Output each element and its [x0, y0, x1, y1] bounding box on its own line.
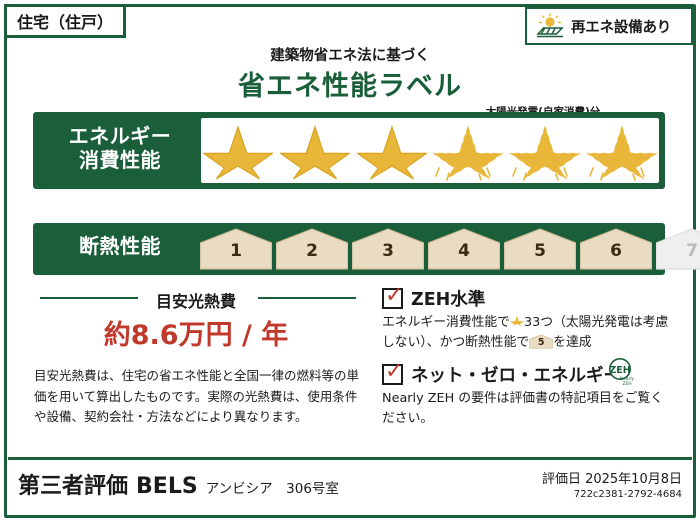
- energy-performance-band: エネルギー 消費性能: [33, 112, 665, 189]
- footer-right: 評価日 2025年10月8日 722c2381-2792-4684: [542, 468, 682, 500]
- star-filled-1: [203, 120, 273, 182]
- star-solar-6: [587, 120, 657, 182]
- star-solar-4: [433, 120, 503, 182]
- cost-value: 約8.6万円 / 年: [36, 313, 356, 352]
- zeh-badge-icon: ZEH Nearly ZEH: [605, 358, 639, 388]
- grade-value-1: 1: [200, 241, 272, 261]
- grade-value-7: 7: [656, 241, 700, 261]
- renewable-badge-label: 再エネ設備あり: [571, 16, 671, 37]
- net-zero-energy-check-row: ✓ ネット・ゼロ・エネルギー: [382, 362, 621, 387]
- renewable-equipment-badge: 再エネ設備あり: [525, 7, 693, 45]
- house-type-tag: 住宅（住戸）: [4, 4, 126, 38]
- star-solar-5: [510, 120, 580, 182]
- checkmark-icon: ✓: [385, 285, 403, 307]
- net-zero-energy-desc: Nearly ZEH の要件は評価書の特記項目をご覧ください。: [382, 389, 668, 429]
- insulation-performance-label: 断熱性能: [45, 235, 195, 259]
- svg-text:ZEH: ZEH: [622, 381, 631, 387]
- svg-text:ZEH: ZEH: [609, 365, 630, 376]
- zeh-standard-check-row: ✓ ZEH水準: [382, 286, 485, 311]
- grade-value-3: 3: [352, 241, 424, 261]
- energy-performance-label: エネルギー 消費性能: [45, 125, 195, 172]
- grade-cell-7: 7: [656, 227, 700, 271]
- zeh-desc-pre: エネルギー消費性能で: [382, 315, 510, 330]
- energy-performance-label-line1: エネルギー: [45, 125, 195, 149]
- grade-value-4: 4: [428, 241, 500, 261]
- inline-star-icon: [510, 314, 524, 328]
- grade-value-5: 5: [504, 241, 576, 261]
- third-party-label: 第三者評価: [18, 468, 128, 500]
- grade-cell-6: 6: [580, 227, 652, 271]
- sun-panel-icon: [535, 13, 565, 39]
- net-zero-energy-checkbox[interactable]: ✓: [382, 364, 403, 385]
- grade-cell-5: 5: [504, 227, 576, 271]
- inline-grade-badge: 5: [529, 334, 553, 349]
- grade-cell-2: 2: [276, 227, 348, 271]
- net-zero-energy-label: ネット・ゼロ・エネルギー: [411, 362, 621, 387]
- evaluation-id: 722c2381-2792-4684: [542, 489, 682, 500]
- bels-energy-label: 住宅（住戸） 再エ: [0, 0, 700, 522]
- star-filled-3: [357, 120, 427, 182]
- zeh-standard-checkbox[interactable]: ✓: [382, 288, 403, 309]
- bels-logo-text: BELS: [136, 474, 198, 499]
- zeh-standard-desc: エネルギー消費性能で33つ（太陽光発電は考慮しない）、かつ断熱性能で5を達成: [382, 313, 672, 353]
- footer-divider: [8, 457, 692, 460]
- cost-note: 目安光熱費は、住宅の省エネ性能と全国一律の燃料等の単価を用いて算出したものです。…: [34, 366, 362, 428]
- footer-left: 第三者評価 BELS アンビシア 306号室: [18, 468, 339, 500]
- cost-title: 目安光熱費: [150, 288, 242, 312]
- grade-value-6: 6: [580, 241, 652, 261]
- grade-value-2: 2: [276, 241, 348, 261]
- checkmark-icon: ✓: [385, 361, 403, 383]
- grade-cell-1: 1: [200, 227, 272, 271]
- zeh-desc-star-count: 3: [524, 315, 532, 330]
- grade-cell-4: 4: [428, 227, 500, 271]
- inline-grade-value: 5: [529, 336, 553, 351]
- zeh-desc-post: を達成: [553, 335, 591, 350]
- energy-performance-label-line2: 消費性能: [45, 149, 195, 173]
- house-type-tag-label: 住宅（住戸）: [17, 9, 113, 33]
- energy-stars-area: [201, 118, 659, 183]
- label-title: 省エネ性能ラベル: [0, 64, 700, 103]
- star-filled-2: [280, 120, 350, 182]
- grade-cell-3: 3: [352, 227, 424, 271]
- evaluation-date: 評価日 2025年10月8日: [542, 468, 682, 487]
- building-name: アンビシア 306号室: [206, 477, 339, 497]
- insulation-grade-list: 1 2 3 4 5: [200, 227, 658, 271]
- cost-title-wrap: 目安光熱費: [36, 288, 356, 312]
- label-subtitle: 建築物省エネ法に基づく: [0, 44, 700, 65]
- zeh-standard-label: ZEH水準: [411, 286, 485, 311]
